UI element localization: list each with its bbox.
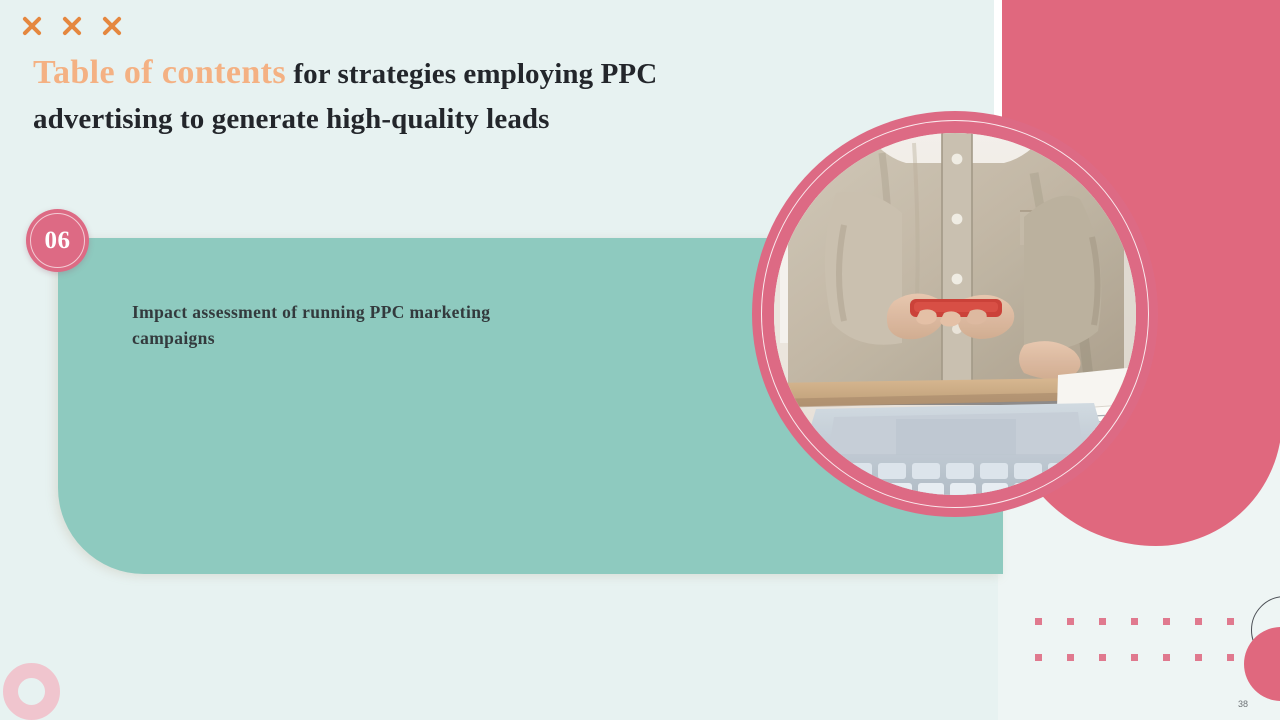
dot: [1227, 618, 1234, 625]
close-x-icon: [18, 12, 46, 40]
dot: [1195, 618, 1202, 625]
dot: [1163, 654, 1170, 661]
photo-circle-frame: [752, 111, 1158, 517]
dot: [1067, 618, 1074, 625]
dot: [1035, 654, 1042, 661]
dot: [1099, 618, 1106, 625]
dot: [1099, 654, 1106, 661]
dot: [1131, 654, 1138, 661]
dot: [1195, 654, 1202, 661]
dot: [1035, 618, 1042, 625]
dot: [1163, 618, 1170, 625]
photo-illustration: [774, 133, 1136, 495]
page-title: Table of contents for strategies employi…: [33, 50, 753, 142]
dot: [1131, 618, 1138, 625]
donut-ring-decor: [3, 663, 60, 720]
close-x-icon: [58, 12, 86, 40]
dot: [1067, 654, 1074, 661]
toc-item-label: Impact assessment of running PPC marketi…: [132, 299, 492, 351]
slide-canvas: Table of contents for strategies employi…: [0, 0, 1280, 720]
x-mark-row: [18, 12, 126, 40]
dot-grid-decor: [1035, 618, 1259, 690]
page-title-accent: Table of contents: [33, 54, 286, 91]
dot: [1227, 654, 1234, 661]
photo-image: [774, 133, 1136, 495]
item-number-badge: 06: [26, 209, 89, 272]
close-x-icon: [98, 12, 126, 40]
badge-number: 06: [26, 227, 89, 255]
page-number: 38: [1238, 699, 1248, 709]
